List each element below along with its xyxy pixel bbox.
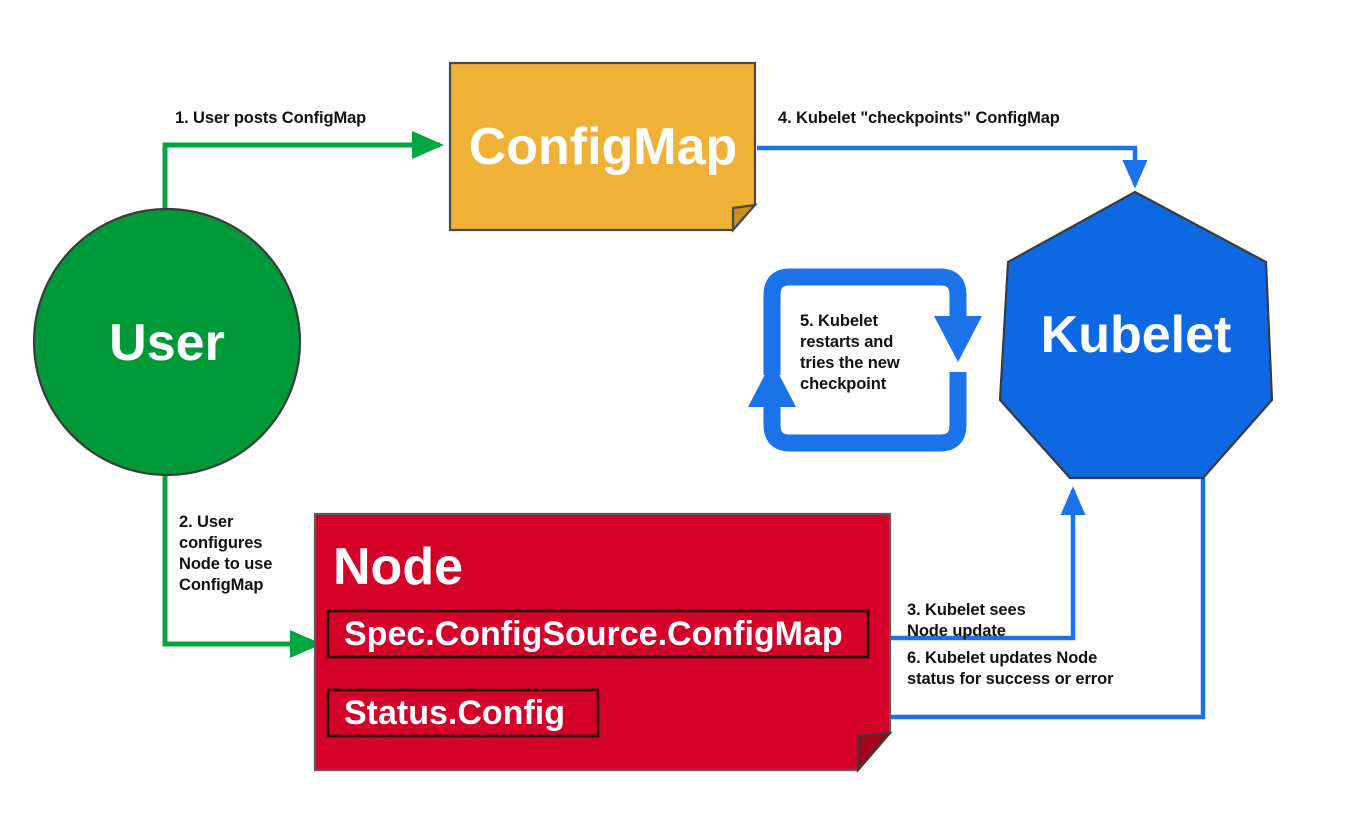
node-field-status-config[interactable]: Status.Config — [328, 690, 598, 736]
edge-configmap-to-kubelet — [757, 148, 1135, 185]
node-user[interactable]: User — [34, 209, 300, 475]
edge-user-to-configmap — [165, 145, 440, 210]
annotation-step-1: 1. User posts ConfigMap — [175, 108, 366, 129]
node-node[interactable]: Node Spec.ConfigSource.ConfigMap Status.… — [315, 514, 890, 770]
node-label: Node — [333, 538, 463, 596]
kubelet-label: Kubelet — [1041, 306, 1232, 364]
configmap-label: ConfigMap — [469, 118, 738, 176]
diagram-canvas: ConfigMap User Kubelet Node Spec.ConfigS… — [0, 0, 1360, 818]
configmap-fold-corner — [733, 205, 755, 230]
annotation-step-4: 4. Kubelet "checkpoints" ConfigMap — [778, 108, 1060, 129]
annotation-step-2: 2. User configures Node to use ConfigMap — [179, 512, 272, 596]
annotation-step-6: 6. Kubelet updates Node status for succe… — [907, 648, 1113, 690]
node-fold-corner — [858, 733, 890, 770]
node-field-status-config-label: Status.Config — [344, 694, 565, 732]
annotation-step-5: 5. Kubelet restarts and tries the new ch… — [800, 311, 900, 395]
node-field-spec-configsource[interactable]: Spec.ConfigSource.ConfigMap — [328, 611, 868, 657]
node-configmap[interactable]: ConfigMap — [450, 63, 755, 230]
node-kubelet[interactable]: Kubelet — [1000, 192, 1272, 478]
user-label: User — [109, 314, 225, 372]
annotation-step-3: 3. Kubelet sees Node update — [907, 600, 1026, 642]
node-field-spec-configsource-label: Spec.ConfigSource.ConfigMap — [344, 615, 843, 653]
